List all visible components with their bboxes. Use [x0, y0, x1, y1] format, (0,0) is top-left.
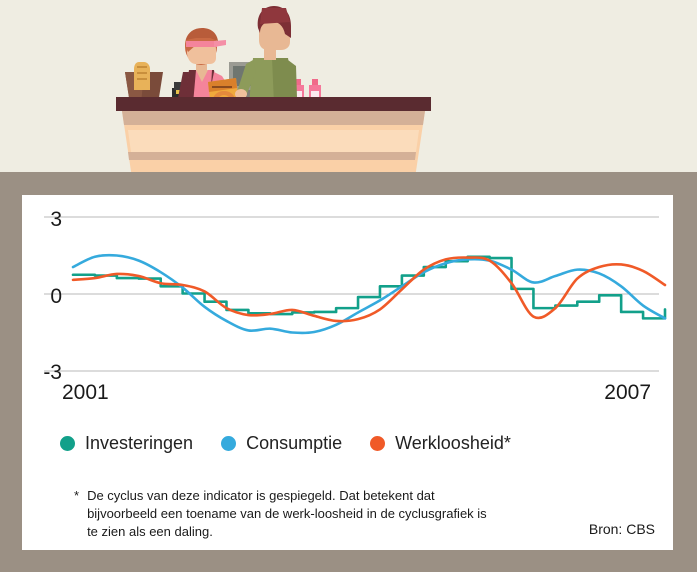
x-axis-label-start: 2001	[62, 381, 109, 405]
footnote-text: De cyclus van deze indicator is gespiege…	[87, 487, 494, 541]
illustration-svg	[0, 0, 697, 178]
chart-card: 3 0 -3 2001 2007 InvesteringenConsumptie…	[22, 195, 673, 550]
chart-plot-area	[22, 195, 673, 393]
legend-label: Investeringen	[85, 433, 193, 454]
cycle-line-chart	[22, 195, 673, 393]
shop-counter-illustration	[0, 0, 697, 178]
legend-item-0[interactable]: Investeringen	[60, 433, 193, 454]
x-axis-label-end: 2007	[604, 381, 651, 405]
legend-color-dot	[221, 436, 236, 451]
footnote-marker: *	[74, 487, 79, 541]
footnote: * De cyclus van deze indicator is gespie…	[74, 487, 494, 541]
legend-color-dot	[370, 436, 385, 451]
legend-item-1[interactable]: Consumptie	[221, 433, 342, 454]
legend-label: Consumptie	[246, 433, 342, 454]
legend-color-dot	[60, 436, 75, 451]
y-axis-label-top: 3	[28, 208, 62, 232]
legend-item-2[interactable]: Werkloosheid*	[370, 433, 511, 454]
source-attribution: Bron: CBS	[589, 521, 655, 537]
series-line-0	[73, 257, 665, 319]
legend-label: Werkloosheid*	[395, 433, 511, 454]
series-line-2	[73, 257, 665, 321]
y-axis-label-middle: 0	[28, 285, 62, 309]
shop-counter	[116, 97, 431, 178]
chart-legend: InvesteringenConsumptieWerkloosheid*	[60, 433, 511, 454]
infographic-root: 3 0 -3 2001 2007 InvesteringenConsumptie…	[0, 0, 697, 572]
y-axis-label-bottom: -3	[22, 361, 62, 385]
floor-band	[0, 178, 697, 194]
